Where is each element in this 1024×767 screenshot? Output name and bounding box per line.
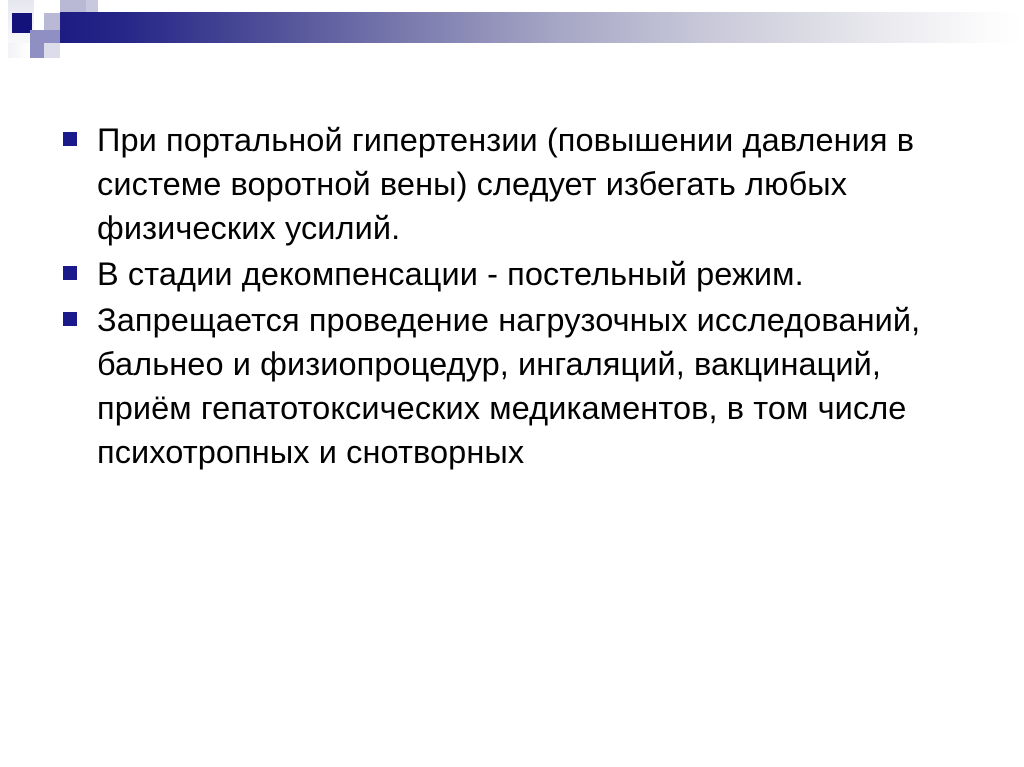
bullet-text: В стадии декомпенсации - постельный режи…: [97, 252, 943, 296]
bullet-text: При портальной гипертензии (повышении да…: [97, 118, 943, 250]
square-faint-row4: [44, 43, 60, 58]
square-bullet-icon: [63, 266, 77, 280]
list-item: При портальной гипертензии (повышении да…: [63, 118, 943, 250]
square-mid-row3-b: [44, 30, 60, 43]
square-pale-top-right: [86, 0, 98, 12]
header-gradient-bar: [60, 12, 1024, 43]
slide-header-decoration: [0, 0, 1024, 70]
square-wash-under: [8, 43, 30, 58]
bullet-list: При портальной гипертензии (повышении да…: [63, 118, 943, 476]
square-light-row2-a: [44, 13, 60, 30]
square-bullet-icon: [63, 132, 77, 146]
list-item: Запрещается проведение нагрузочных иссле…: [63, 298, 943, 474]
list-item: В стадии декомпенсации - постельный режи…: [63, 252, 943, 296]
square-bullet-icon: [63, 312, 77, 326]
bullet-text: Запрещается проведение нагрузочных иссле…: [97, 298, 943, 474]
slide: При портальной гипертензии (повышении да…: [0, 0, 1024, 767]
square-navy-accent: [12, 13, 32, 33]
